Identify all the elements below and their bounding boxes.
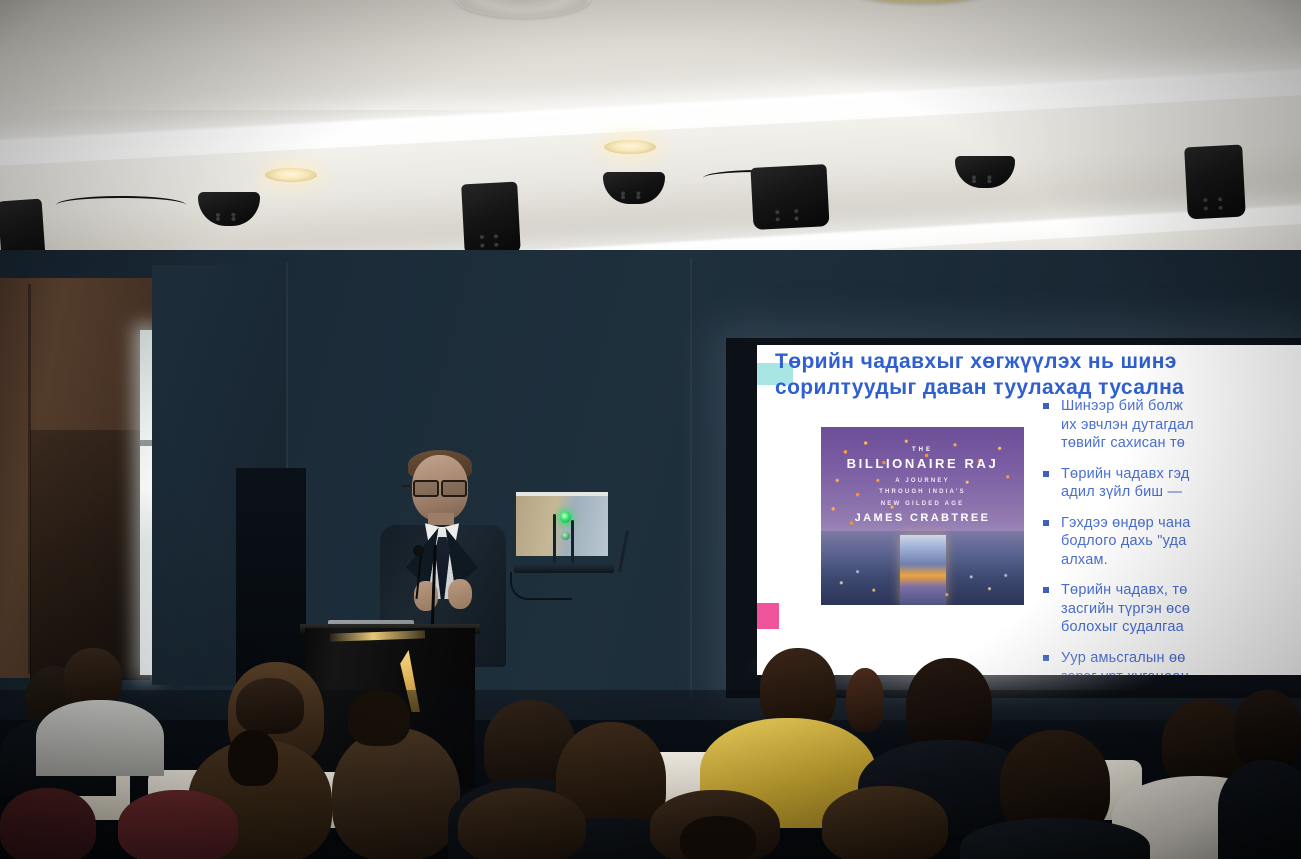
downlight-icon [604, 140, 656, 154]
speaker-hand [448, 579, 472, 609]
slide-title: Төрийн чадавхыг хөгжүүлэх нь шинэ сорилт… [775, 349, 1301, 400]
wall-shadow [30, 430, 150, 680]
glasses-icon [412, 480, 468, 493]
audience-head [846, 668, 884, 732]
audience-head [0, 788, 96, 859]
audience-head [458, 788, 586, 859]
book-title: BILLIONAIRE RAJ [821, 456, 1024, 471]
microphone-icon [413, 545, 424, 556]
wall-seam [690, 258, 692, 698]
audience-head [64, 648, 122, 706]
power-cable [510, 572, 572, 600]
downlight-icon [265, 168, 317, 182]
audience-head [228, 730, 278, 786]
window-mullion [140, 440, 152, 446]
moving-head-spotlight [461, 182, 521, 257]
slide-title-line-1: Төрийн чадавхыг хөгжүүлэх нь шинэ [775, 349, 1301, 375]
wall-router-panel [516, 492, 608, 556]
book-cover-image: THE BILLIONAIRE RAJ A JOURNEY THROUGH IN… [821, 427, 1024, 605]
audience-shoulders [36, 700, 164, 776]
audience-head [236, 678, 304, 734]
book-city-lights [821, 531, 1024, 605]
moving-head-spotlight [1184, 145, 1246, 220]
audience-head [680, 816, 756, 859]
antenna [571, 520, 574, 566]
slide-bullet-list: Шинээр бий болж их эвчлэн дутагдал төвий… [1039, 397, 1301, 675]
audience-head [1234, 690, 1301, 770]
book-subtitle: A JOURNEY THROUGH INDIA'S NEW GILDED AGE [821, 476, 1024, 510]
moving-head-spotlight [750, 164, 829, 230]
moving-head-spotlight [955, 156, 1015, 188]
list-item: Шинээр бий болж их эвчлэн дутагдал төвий… [1039, 397, 1301, 453]
power-cable [56, 196, 186, 214]
audience-head [332, 728, 460, 859]
antenna [553, 514, 556, 566]
window-light-strip [140, 330, 152, 675]
audience-head [348, 690, 410, 746]
glasses-bridge [402, 485, 410, 487]
pink-accent-block [757, 603, 779, 629]
audience-head [822, 786, 948, 859]
audience-head [118, 790, 238, 859]
book-the-label: THE [821, 447, 1024, 453]
list-item: Гэхдээ өндөр чана бодлого дахь "уда алха… [1039, 514, 1301, 570]
presentation-slide: Төрийн чадавхыг хөгжүүлэх нь шинэ сорилт… [757, 345, 1301, 675]
list-item: Төрийн чадавх, тө засгийн түргэн өсө бол… [1039, 581, 1301, 637]
list-item: Төрийн чадавх гэд адил зүйл биш — [1039, 465, 1301, 502]
conference-photo: Төрийн чадавхыг хөгжүүлэх нь шинэ сорилт… [0, 0, 1301, 859]
audience-shoulders [1218, 760, 1301, 859]
status-led-icon [560, 512, 571, 523]
status-led-icon [561, 532, 570, 540]
